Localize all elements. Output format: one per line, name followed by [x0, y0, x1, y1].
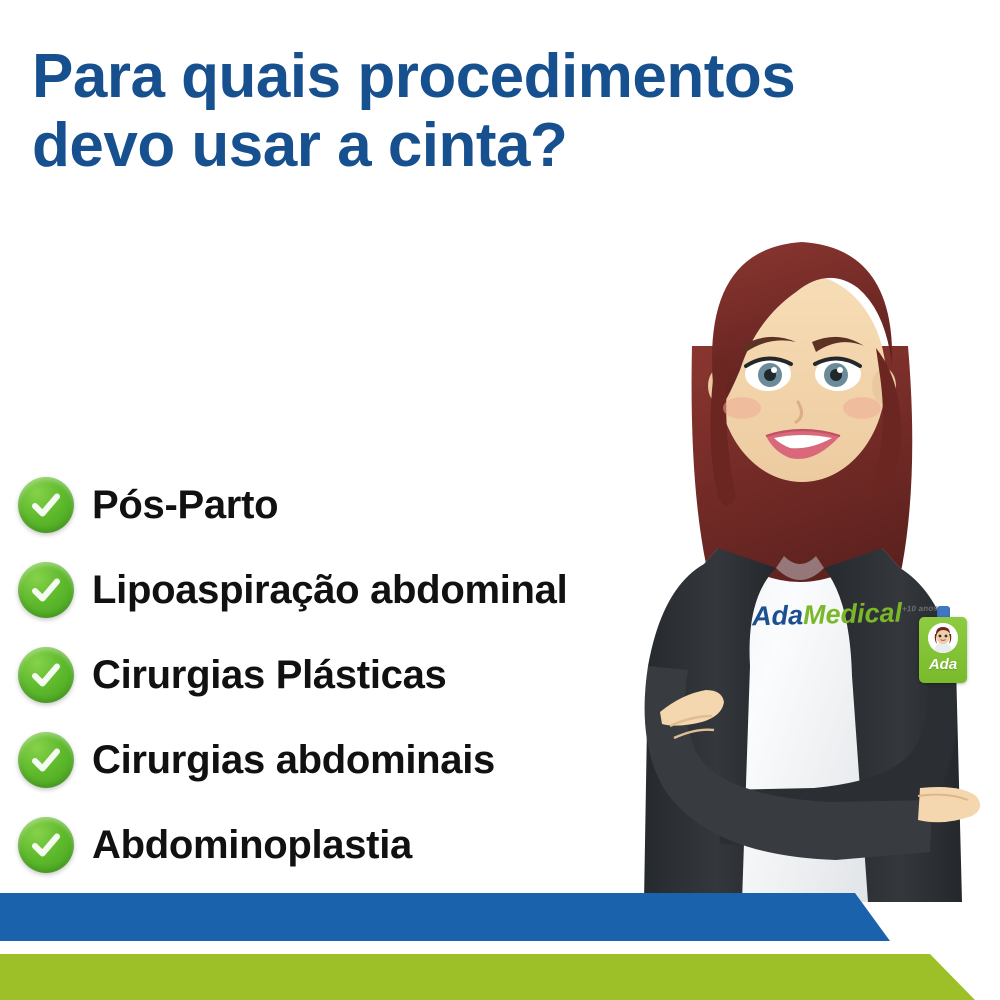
benefits-list: Pós-Parto Lipoaspiração abdominal Cirurg…	[18, 462, 567, 887]
list-item: Cirurgias abdominais	[18, 717, 567, 802]
page-title: Para quais procedimentos devo usar a cin…	[32, 42, 962, 181]
list-item: Abdominoplastia	[18, 802, 567, 887]
brand-logo-superscript: +10 anos	[902, 604, 938, 614]
brand-logo-ada: Ada	[752, 600, 804, 631]
check-circle-icon	[18, 562, 74, 618]
list-item-label: Lipoaspiração abdominal	[92, 570, 567, 610]
check-circle-icon	[18, 732, 74, 788]
list-item-label: Abdominoplastia	[92, 825, 412, 865]
badge-name-label: Ada	[919, 657, 967, 672]
check-circle-icon	[18, 477, 74, 533]
list-item-label: Cirurgias Plásticas	[92, 655, 446, 695]
badge-body: Ada	[919, 617, 967, 683]
check-circle-icon	[18, 647, 74, 703]
woman-illustration	[600, 196, 1000, 902]
footer-bar-blue	[0, 893, 890, 941]
list-item: Cirurgias Plásticas	[18, 632, 567, 717]
id-badge: Ada	[919, 617, 967, 683]
avatar	[928, 623, 958, 653]
list-item: Lipoaspiração abdominal	[18, 547, 567, 632]
check-circle-icon	[18, 817, 74, 873]
list-item-label: Cirurgias abdominais	[92, 740, 495, 780]
brand-logo-medical: Medical	[803, 598, 903, 631]
list-item-label: Pós-Parto	[92, 485, 278, 525]
footer-bar-green	[0, 954, 975, 1000]
list-item: Pós-Parto	[18, 462, 567, 547]
poster-canvas: Para quais procedimentos devo usar a cin…	[0, 0, 1000, 1000]
brand-logo: AdaMedical+10 anos	[752, 599, 939, 631]
